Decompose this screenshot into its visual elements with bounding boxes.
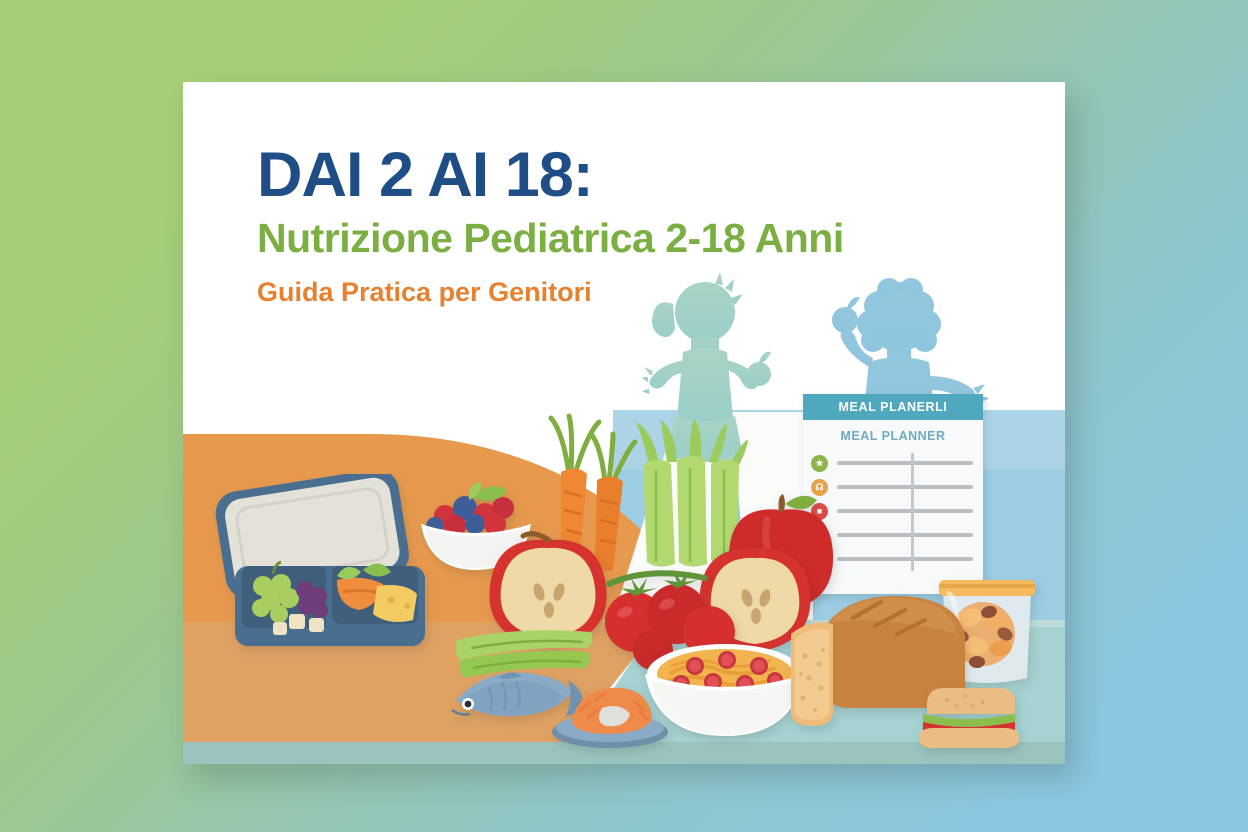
planner-line <box>837 509 973 513</box>
planner-line <box>837 557 973 561</box>
cover-card: MEAL PLANERLI MEAL PLANNER ★ ☊ ■ <box>183 82 1065 764</box>
page-title: DAI 2 AI 18: <box>257 144 844 207</box>
planner-line <box>837 485 973 489</box>
apple-icon: ★ <box>811 455 828 472</box>
cover-text-block: DAI 2 AI 18: Nutrizione Pediatrica 2-18 … <box>257 144 844 308</box>
page-tagline: Guida Pratica per Genitori <box>257 278 844 308</box>
sandwich <box>913 680 1023 755</box>
page-subtitle: Nutrizione Pediatrica 2-18 Anni <box>257 217 844 260</box>
planner-header: MEAL PLANERLI <box>803 394 983 420</box>
planner-row[interactable]: ★ <box>811 451 973 475</box>
planner-line <box>837 461 973 465</box>
planner-line <box>837 533 973 537</box>
planner-divider <box>911 453 914 571</box>
cover-stage: MEAL PLANERLI MEAL PLANNER ★ ☊ ■ <box>0 0 1248 832</box>
planner-subtitle: MEAL PLANNER <box>803 420 983 449</box>
bento-lunchbox <box>211 474 441 659</box>
